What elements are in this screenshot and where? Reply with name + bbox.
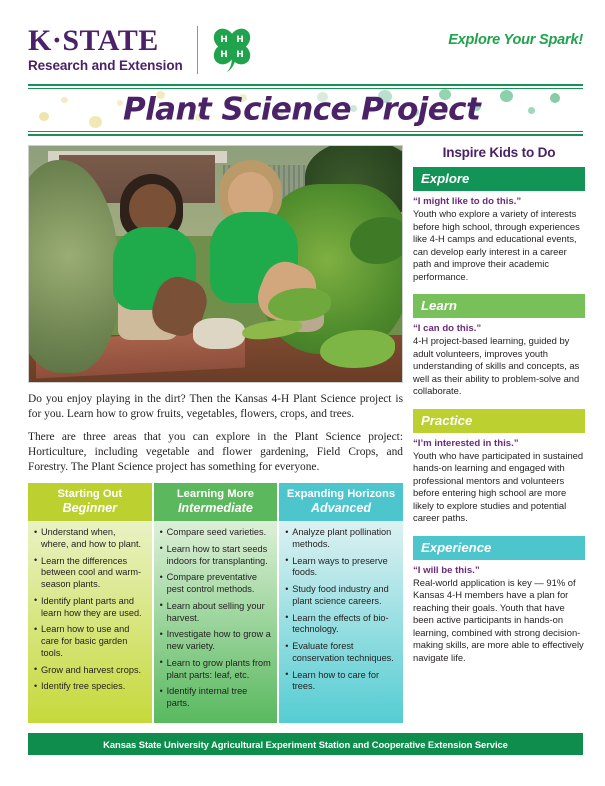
stage-explore: Explore “I might like to do this.” Youth… — [413, 167, 585, 283]
level-subtitle: Intermediate — [158, 501, 274, 515]
list-item: Analyze plant pollination methods. — [285, 527, 397, 551]
intro-paragraph-1: Do you enjoy playing in the dirt? Then t… — [28, 392, 403, 423]
tagline: Explore Your Spark! — [448, 32, 583, 48]
list-item: Identify plant parts and learn how they … — [34, 596, 146, 620]
level-subtitle: Beginner — [32, 501, 148, 515]
page-header: K·STATE Research and Extension H H — [0, 0, 605, 140]
list-item: Learn ways to preserve foods. — [285, 556, 397, 580]
title-band: Plant Science Project — [28, 84, 583, 136]
logo-divider — [197, 26, 198, 74]
level-header-intermediate: Learning More Intermediate — [154, 483, 278, 521]
list-item: Identify tree species. — [34, 681, 146, 693]
list-item: Compare preventative pest control method… — [160, 572, 272, 596]
list-item: Investigate how to grow a new variety. — [160, 629, 272, 653]
list-item: Learn how to use and care for basic gard… — [34, 624, 146, 659]
level-title: Starting Out — [32, 488, 148, 501]
kstate-wordmark: K·STATE Research and Extension — [28, 26, 183, 74]
level-title: Expanding Horizons — [283, 488, 399, 501]
stage-learn: Learn “I can do this.” 4-H project-based… — [413, 294, 585, 398]
list-item: Learn about selling your harvest. — [160, 601, 272, 625]
level-body-advanced: Analyze plant pollination methods. Learn… — [279, 521, 403, 723]
list-item: Evaluate forest conservation techniques. — [285, 641, 397, 665]
page-title: Plant Science Project — [123, 91, 480, 127]
hero-photo — [28, 145, 403, 383]
list-item: Learn how to start seeds indoors for tra… — [160, 544, 272, 568]
intro-paragraph-2: There are three areas that you can explo… — [28, 430, 403, 476]
level-header-advanced: Expanding Horizons Advanced — [279, 483, 403, 521]
stage-header: Practice — [413, 409, 585, 433]
stage-header: Learn — [413, 294, 585, 318]
four-leaf-clover-icon: H H H H — [211, 26, 253, 74]
stage-header: Experience — [413, 536, 585, 560]
kstate-university-name: K·STATE — [28, 26, 183, 56]
stage-quote: “I will be this.” — [413, 565, 585, 576]
level-body-beginner: Understand when, where, and how to plant… — [28, 521, 152, 723]
list-item: Study food industry and plant science ca… — [285, 584, 397, 608]
stage-header: Explore — [413, 167, 585, 191]
svg-text:H: H — [220, 35, 228, 45]
svg-text:H: H — [220, 50, 228, 60]
stage-text: 4-H project-based learning, guided by ad… — [413, 335, 585, 398]
poster-page: K·STATE Research and Extension H H — [0, 0, 605, 786]
sidebar-title: Inspire Kids to Do — [413, 145, 585, 160]
footer-bar: Kansas State University Agricultural Exp… — [28, 733, 583, 755]
stage-quote: “I’m interested in this.” — [413, 438, 585, 449]
stage-text: Real-world application is key — 91% of K… — [413, 577, 585, 665]
stage-practice: Practice “I’m interested in this.” Youth… — [413, 409, 585, 525]
level-body-intermediate: Compare seed varieties. Learn how to sta… — [154, 521, 278, 723]
stage-quote: “I can do this.” — [413, 323, 585, 334]
list-item: Learn the differences between cool and w… — [34, 556, 146, 591]
level-column-intermediate: Learning More Intermediate Compare seed … — [154, 483, 278, 723]
level-subtitle: Advanced — [283, 501, 399, 515]
list-item: Learn the effects of bio-technology. — [285, 613, 397, 637]
inspire-sidebar: Inspire Kids to Do Explore “I might like… — [413, 145, 585, 723]
stage-text: Youth who have participated in sustained… — [413, 450, 585, 525]
level-title: Learning More — [158, 488, 274, 501]
level-column-beginner: Starting Out Beginner Understand when, w… — [28, 483, 152, 723]
stage-text: Youth who explore a variety of interests… — [413, 208, 585, 283]
stage-experience: Experience “I will be this.” Real-world … — [413, 536, 585, 665]
intro-paragraphs: Do you enjoy playing in the dirt? Then t… — [28, 392, 403, 475]
main-content: Do you enjoy playing in the dirt? Then t… — [28, 145, 583, 723]
list-item: Compare seed varieties. — [160, 527, 272, 539]
list-item: Learn how to care for trees. — [285, 670, 397, 694]
list-item: Identify internal tree parts. — [160, 686, 272, 710]
kstate-logo: K·STATE Research and Extension H H — [28, 26, 253, 74]
kstate-unit-name: Research and Extension — [28, 58, 183, 74]
stage-quote: “I might like to do this.” — [413, 196, 585, 207]
project-levels-table: Starting Out Beginner Understand when, w… — [28, 483, 403, 723]
list-item: Learn to grow plants from plant parts: l… — [160, 658, 272, 682]
svg-text:H: H — [236, 50, 244, 60]
list-item: Understand when, where, and how to plant… — [34, 527, 146, 551]
svg-text:H: H — [236, 35, 244, 45]
list-item: Grow and harvest crops. — [34, 665, 146, 677]
left-column: Do you enjoy playing in the dirt? Then t… — [28, 145, 403, 723]
level-column-advanced: Expanding Horizons Advanced Analyze plan… — [279, 483, 403, 723]
level-header-beginner: Starting Out Beginner — [28, 483, 152, 521]
